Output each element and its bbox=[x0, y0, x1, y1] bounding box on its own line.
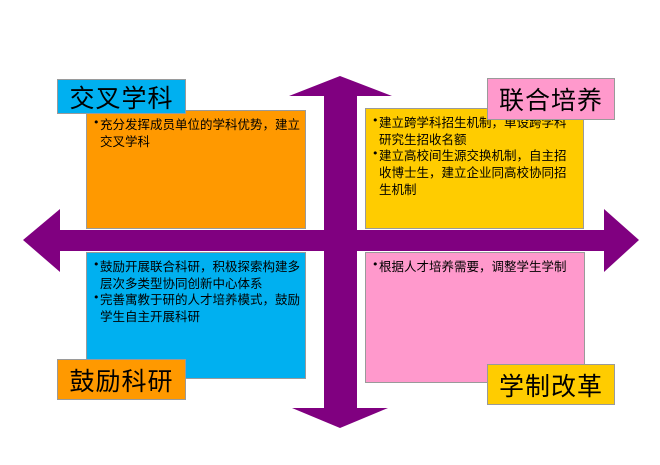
quadrant-label-text: 联合培养 bbox=[499, 81, 603, 117]
quadrant-label-text: 交叉学科 bbox=[69, 79, 173, 115]
quadrant-label-bottom-left[interactable]: 鼓励科研 bbox=[57, 359, 186, 400]
bullet-list-top-left: 充分发挥成员单位的学科优势，建立交叉学科 bbox=[93, 117, 300, 150]
quadrant-label-top-left[interactable]: 交叉学科 bbox=[57, 79, 186, 114]
list-item: 完善寓教于研的人才培养模式，鼓励学生自主开展科研 bbox=[93, 292, 300, 325]
bullet-list-bottom-right: 根据人才培养需要，调整学生学制 bbox=[372, 259, 579, 276]
arrow-center-junction bbox=[324, 230, 357, 251]
slide-canvas: 充分发挥成员单位的学科优势，建立交叉学科 交叉学科 建立跨学科招生机制，单设跨学… bbox=[0, 0, 660, 465]
quadrant-label-text: 学制改革 bbox=[499, 367, 603, 403]
bullet-list-bottom-left: 鼓励开展联合科研，积极探索构建多层次多类型协同创新中心体系 完善寓教于研的人才培… bbox=[93, 259, 300, 326]
quadrant-body-top-right: 建立跨学科招生机制，单设跨学科研究生招收名额 建立高校间生源交换机制，自主招收博… bbox=[365, 108, 584, 229]
quadrant-label-top-right[interactable]: 联合培养 bbox=[487, 78, 615, 120]
quadrant-label-bottom-right[interactable]: 学制改革 bbox=[487, 364, 615, 405]
list-item: 鼓励开展联合科研，积极探索构建多层次多类型协同创新中心体系 bbox=[93, 259, 300, 292]
quadrant-label-text: 鼓励科研 bbox=[69, 362, 173, 398]
list-item: 建立高校间生源交换机制，自主招收博士生，建立企业同高校协同招生机制 bbox=[372, 148, 578, 198]
list-item: 充分发挥成员单位的学科优势，建立交叉学科 bbox=[93, 117, 300, 150]
bullet-list-top-right: 建立跨学科招生机制，单设跨学科研究生招收名额 建立高校间生源交换机制，自主招收博… bbox=[372, 115, 578, 198]
quadrant-body-top-left: 充分发挥成员单位的学科优势，建立交叉学科 bbox=[86, 110, 306, 229]
list-item: 根据人才培养需要，调整学生学制 bbox=[372, 259, 579, 276]
